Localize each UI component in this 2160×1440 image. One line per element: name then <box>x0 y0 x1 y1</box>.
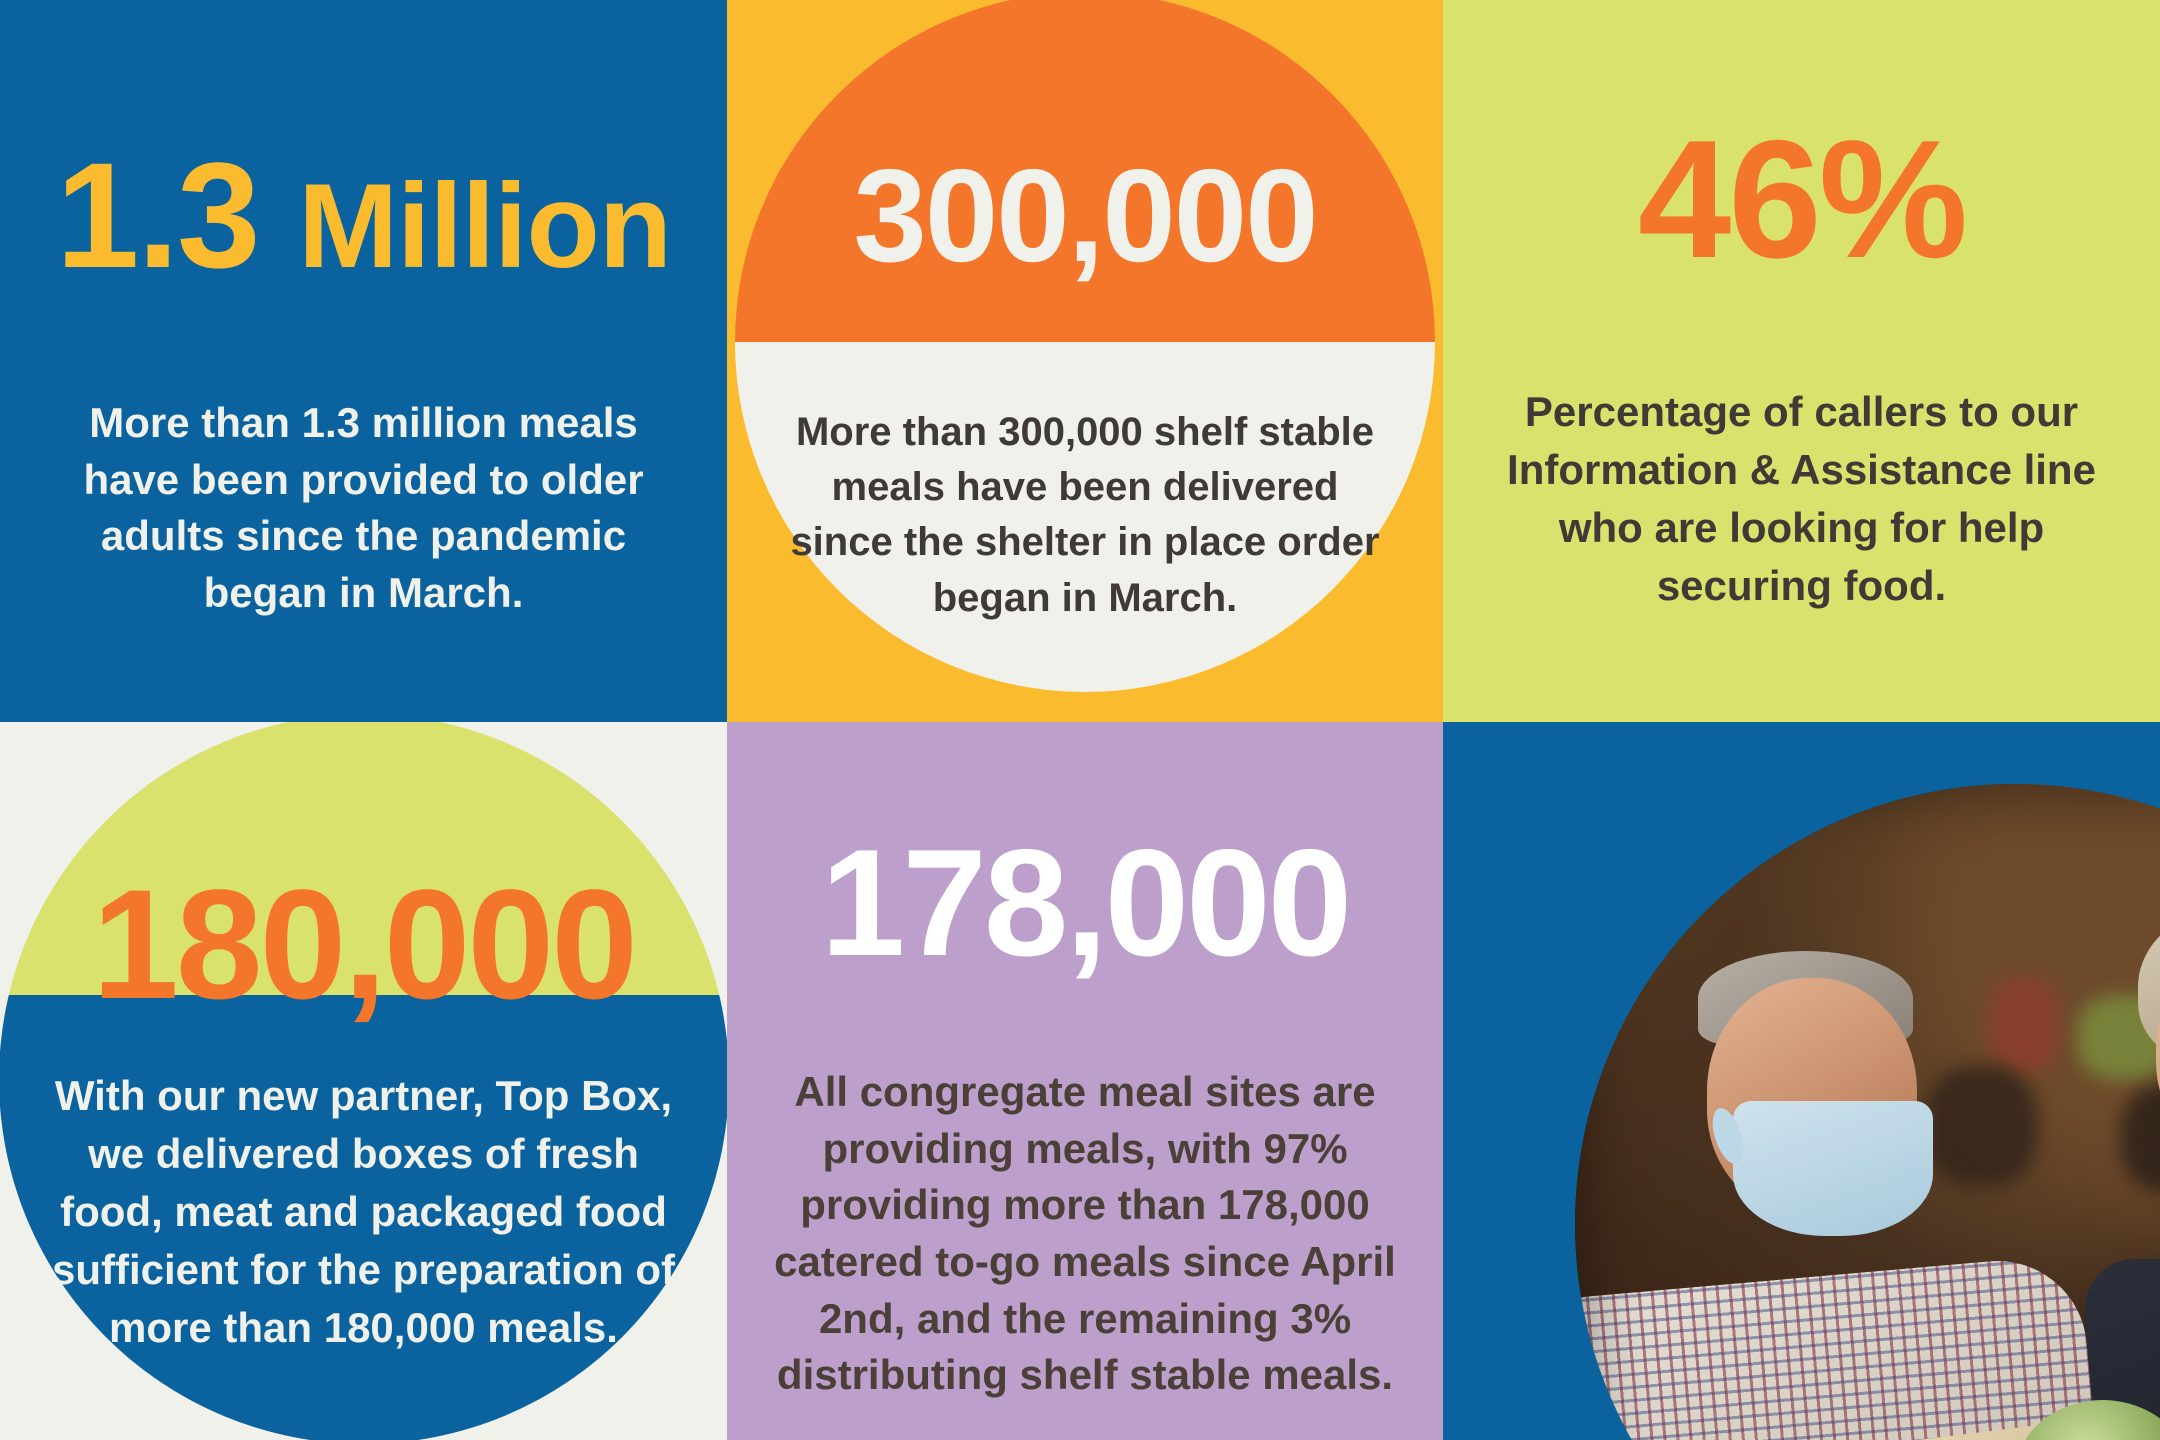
circular-photo-mask <box>1575 784 2160 1440</box>
stat-description-congregate-meals: All congregate meal sites are providing … <box>765 1064 1405 1404</box>
stat-number-callers-percent: 46% <box>1638 115 1965 283</box>
stat-number-meals-provided: 1.3 Million <box>56 140 671 290</box>
infographic-grid: 1.3 Million More than 1.3 million meals … <box>0 0 2160 1440</box>
food-delivery-photo <box>1575 784 2160 1440</box>
stat-number-unit: Million <box>298 159 671 293</box>
photo-panel <box>1443 722 2160 1440</box>
stat-description-callers-percent: Percentage of callers to our Information… <box>1492 383 2112 615</box>
stat-panel-shelf-stable: 300,000 More than 300,000 shelf stable m… <box>727 0 1443 722</box>
photo-vignette <box>1575 784 2160 1440</box>
stat-panel-callers-percent: 46% Percentage of callers to our Informa… <box>1443 0 2160 722</box>
stat-panel-congregate-meals: 178,000 All congregate meal sites are pr… <box>727 722 1443 1440</box>
stat-description-top-box: With our new partner, Top Box, we delive… <box>44 1067 684 1357</box>
stat-number-value: 1.3 <box>56 131 259 299</box>
stat-number-congregate-meals: 178,000 <box>821 827 1349 979</box>
stat-panel-meals-provided: 1.3 Million More than 1.3 million meals … <box>0 0 727 722</box>
stat-panel-top-box: 180,000 With our new partner, Top Box, w… <box>0 722 727 1440</box>
stat-description-meals-provided: More than 1.3 million meals have been pr… <box>49 395 679 622</box>
stat-number-top-box: 180,000 <box>0 867 727 1023</box>
stat-description-shelf-stable: More than 300,000 shelf stable meals hav… <box>785 405 1385 626</box>
stat-number-shelf-stable: 300,000 <box>727 150 1443 282</box>
